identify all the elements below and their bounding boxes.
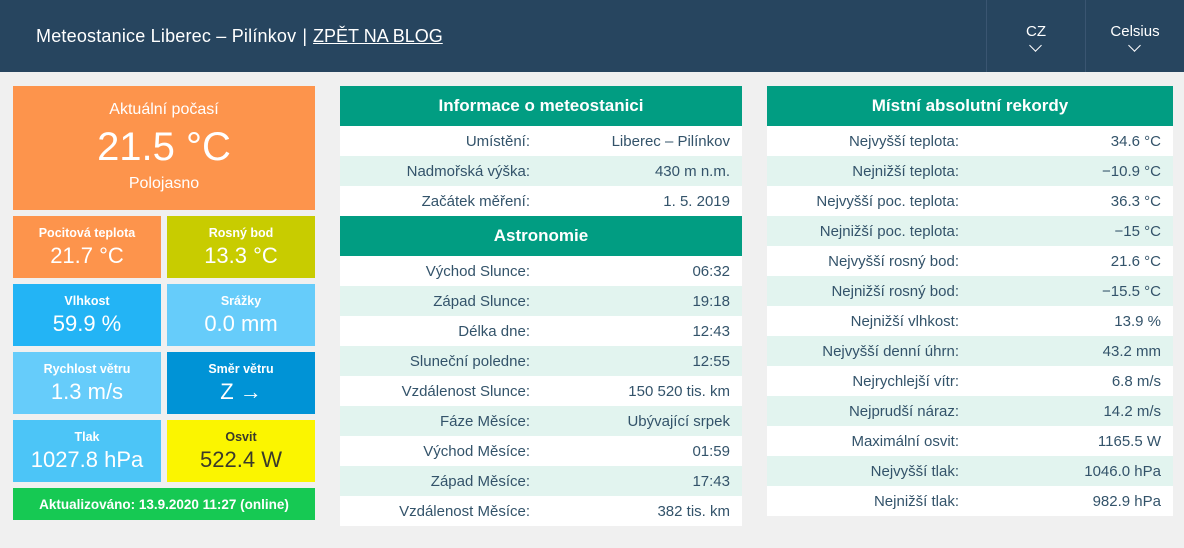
- astronomy-table: Východ Slunce:06:32Západ Slunce:19:18Dél…: [340, 256, 742, 526]
- measurement-tile[interactable]: Osvit522.4 W: [167, 420, 315, 482]
- measurement-tile-label: Směr větru: [208, 361, 273, 378]
- table-row: Nejnižší rosný bod:−15.5 °C: [767, 276, 1173, 306]
- table-row-key: Začátek měření:: [340, 193, 540, 210]
- measurement-tile[interactable]: Rosný bod13.3 °C: [167, 216, 315, 278]
- header-controls: CZ Celsius: [986, 0, 1184, 72]
- records-header: Místní absolutní rekordy: [767, 86, 1173, 126]
- station-info-column: Informace o meteostanici Umístění:Libere…: [340, 86, 742, 526]
- table-row-value-text[interactable]: 34.6 °C: [1111, 133, 1161, 150]
- table-row: Začátek měření:1. 5. 2019: [340, 186, 742, 216]
- table-row-key: Západ Slunce:: [340, 293, 540, 310]
- current-weather-card: Aktuální počasí 21.5 °C Polojasno: [13, 86, 315, 210]
- table-row-value: 36.3 °C: [969, 193, 1173, 210]
- last-updated-text: Aktualizováno: 13.9.2020 11:27 (online): [39, 497, 289, 512]
- records-column: Místní absolutní rekordy Nejvyšší teplot…: [767, 86, 1173, 526]
- table-row-value-text[interactable]: 14.2 m/s: [1103, 403, 1161, 420]
- back-to-blog-link[interactable]: ZPĚT NA BLOG: [313, 26, 443, 47]
- chevron-down-icon: [1129, 41, 1142, 49]
- table-row-value: 01:59: [540, 443, 742, 460]
- table-row-key: Nejvyšší tlak:: [767, 463, 969, 480]
- table-row-value: 1165.5 W: [969, 433, 1173, 450]
- table-row-value: 13.9 %: [969, 313, 1173, 330]
- table-row-value: 6.8 m/s: [969, 373, 1173, 390]
- table-row-value: 34.6 °C: [969, 133, 1173, 150]
- measurement-tile[interactable]: Pocitová teplota21.7 °C: [13, 216, 161, 278]
- table-row: Západ Měsíce:17:43: [340, 466, 742, 496]
- table-row-value-text[interactable]: 6.8 m/s: [1112, 373, 1161, 390]
- measurement-tile[interactable]: Tlak1027.8 hPa: [13, 420, 161, 482]
- table-row: Délka dne:12:43: [340, 316, 742, 346]
- table-row-value-text[interactable]: 1046.0 hPa: [1084, 463, 1161, 480]
- chevron-down-icon: [1030, 41, 1043, 49]
- title-separator: |: [296, 26, 313, 47]
- measurement-tile-value: 21.7 °C: [50, 242, 124, 270]
- table-row-key: Sluneční poledne:: [340, 353, 540, 370]
- table-row-value: 17:43: [540, 473, 742, 490]
- table-row-value-text[interactable]: 150 520 tis. km: [628, 383, 730, 400]
- measurement-tile[interactable]: Srážky0.0 mm: [167, 284, 315, 346]
- table-row-key: Nejvyšší denní úhrn:: [767, 343, 969, 360]
- language-dropdown[interactable]: CZ: [986, 0, 1085, 72]
- measurement-tile-value: 59.9 %: [53, 310, 122, 338]
- table-row-value: 21.6 °C: [969, 253, 1173, 270]
- table-row-key: Nadmořská výška:: [340, 163, 540, 180]
- table-row-value: −15 °C: [969, 223, 1173, 240]
- table-row: Nejvyšší denní úhrn:43.2 mm: [767, 336, 1173, 366]
- table-row-value: Liberec – Pilínkov: [540, 133, 742, 150]
- table-row-value: 982.9 hPa: [969, 493, 1173, 510]
- table-row-value-text[interactable]: 43.2 mm: [1103, 343, 1161, 360]
- table-row: Nejnižší vlhkost:13.9 %: [767, 306, 1173, 336]
- table-row-value-text[interactable]: 1165.5 W: [1098, 433, 1161, 450]
- table-row-key: Nejnižší tlak:: [767, 493, 969, 510]
- table-row: Nejnižší poc. teplota:−15 °C: [767, 216, 1173, 246]
- table-row: Vzdálenost Měsíce:382 tis. km: [340, 496, 742, 526]
- measurement-tile-value: 1.3 m/s: [51, 378, 123, 406]
- table-row-value-text[interactable]: −15 °C: [1115, 223, 1161, 240]
- measurement-tile-label: Rychlost větru: [44, 361, 131, 378]
- measurement-tile[interactable]: Vlhkost59.9 %: [13, 284, 161, 346]
- measurement-tile-label: Rosný bod: [209, 225, 274, 242]
- table-row-value-text[interactable]: 982.9 hPa: [1093, 493, 1161, 510]
- records-table: Nejvyšší teplota:34.6 °CNejnižší teplota…: [767, 126, 1173, 516]
- table-row-key: Východ Slunce:: [340, 263, 540, 280]
- current-temperature-value: 21.5 °C: [13, 122, 315, 172]
- table-row: Nejvyšší teplota:34.6 °C: [767, 126, 1173, 156]
- table-row-value: 19:18: [540, 293, 742, 310]
- current-weather-description: Polojasno: [13, 172, 315, 196]
- current-weather-column: Aktuální počasí 21.5 °C Polojasno Pocito…: [13, 86, 315, 526]
- table-row-value: 150 520 tis. km: [540, 383, 742, 400]
- table-row-key: Vzdálenost Slunce:: [340, 383, 540, 400]
- table-row: Nejprudší náraz:14.2 m/s: [767, 396, 1173, 426]
- last-updated-badge: Aktualizováno: 13.9.2020 11:27 (online): [13, 488, 315, 520]
- table-row-value-text[interactable]: 382 tis. km: [657, 503, 730, 520]
- table-row-value: 1. 5. 2019: [540, 193, 742, 210]
- page-title: Meteostanice Liberec – Pilínkov: [36, 26, 296, 47]
- table-row-key: Nejnižší vlhkost:: [767, 313, 969, 330]
- current-weather-label: Aktuální počasí: [13, 98, 315, 122]
- table-row: Maximální osvit:1165.5 W: [767, 426, 1173, 456]
- table-row-key: Vzdálenost Měsíce:: [340, 503, 540, 520]
- measurement-tile-label: Osvit: [225, 429, 256, 446]
- table-row: Východ Měsíce:01:59: [340, 436, 742, 466]
- table-row-value-text[interactable]: 21.6 °C: [1111, 253, 1161, 270]
- table-row: Nejvyšší poc. teplota:36.3 °C: [767, 186, 1173, 216]
- table-row: Fáze Měsíce:Ubývající srpek: [340, 406, 742, 436]
- table-row: Západ Slunce:19:18: [340, 286, 742, 316]
- table-row-key: Nejnižší rosný bod:: [767, 283, 969, 300]
- table-row-key: Západ Měsíce:: [340, 473, 540, 490]
- table-row-value: Ubývající srpek: [540, 413, 742, 430]
- header-title-group: Meteostanice Liberec – Pilínkov | ZPĚT N…: [0, 0, 443, 72]
- table-row-value: 43.2 mm: [969, 343, 1173, 360]
- table-row-key: Nejvyšší poc. teplota:: [767, 193, 969, 210]
- table-row: Východ Slunce:06:32: [340, 256, 742, 286]
- table-row-key: Nejvyšší teplota:: [767, 133, 969, 150]
- table-row-key: Maximální osvit:: [767, 433, 969, 450]
- measurement-tile-label: Srážky: [221, 293, 261, 310]
- table-row-value: 430 m n.m.: [540, 163, 742, 180]
- station-info-header: Informace o meteostanici: [340, 86, 742, 126]
- astronomy-header: Astronomie: [340, 216, 742, 256]
- table-row-key: Nejrychlejší vítr:: [767, 373, 969, 390]
- table-row-key: Fáze Měsíce:: [340, 413, 540, 430]
- table-row-key: Umístění:: [340, 133, 540, 150]
- table-row-key: Východ Měsíce:: [340, 443, 540, 460]
- table-row-value-text[interactable]: −15.5 °C: [1102, 283, 1161, 300]
- table-row-value: −15.5 °C: [969, 283, 1173, 300]
- measurement-tile-value: 13.3 °C: [204, 242, 278, 270]
- table-row: Nejnižší teplota:−10.9 °C: [767, 156, 1173, 186]
- measurement-tile-grid: Pocitová teplota21.7 °CRosný bod13.3 °CV…: [13, 216, 315, 482]
- page-body: Aktuální počasí 21.5 °C Polojasno Pocito…: [0, 72, 1184, 526]
- table-row-value-text[interactable]: 13.9 %: [1114, 313, 1161, 330]
- table-row-key: Délka dne:: [340, 323, 540, 340]
- table-row-key: Nejprudší náraz:: [767, 403, 969, 420]
- language-dropdown-label: CZ: [1026, 24, 1046, 39]
- station-info-table: Umístění:Liberec – PilínkovNadmořská výš…: [340, 126, 742, 216]
- table-row-key: Nejnižší poc. teplota:: [767, 223, 969, 240]
- table-row: Vzdálenost Slunce:150 520 tis. km: [340, 376, 742, 406]
- table-row-value: 12:43: [540, 323, 742, 340]
- table-row: Nejvyšší tlak:1046.0 hPa: [767, 456, 1173, 486]
- units-dropdown[interactable]: Celsius: [1085, 0, 1184, 72]
- table-row-key: Nejnižší teplota:: [767, 163, 969, 180]
- measurement-tile-value: 0.0 mm: [204, 310, 277, 338]
- measurement-tile-label: Vlhkost: [64, 293, 109, 310]
- measurement-tile-value: 522.4 W: [200, 446, 282, 474]
- table-row-value: 382 tis. km: [540, 503, 742, 520]
- table-row: Nejvyšší rosný bod:21.6 °C: [767, 246, 1173, 276]
- table-row: Nejrychlejší vítr:6.8 m/s: [767, 366, 1173, 396]
- table-row-value: 06:32: [540, 263, 742, 280]
- units-dropdown-label: Celsius: [1110, 24, 1159, 39]
- measurement-tile[interactable]: Směr větruZ →: [167, 352, 315, 414]
- table-row: Umístění:Liberec – Pilínkov: [340, 126, 742, 156]
- table-row-value: 12:55: [540, 353, 742, 370]
- measurement-tile-label: Pocitová teplota: [39, 225, 136, 242]
- table-row-value: 1046.0 hPa: [969, 463, 1173, 480]
- table-row: Sluneční poledne:12:55: [340, 346, 742, 376]
- table-row-value: 14.2 m/s: [969, 403, 1173, 420]
- table-row-value-text[interactable]: 36.3 °C: [1111, 193, 1161, 210]
- table-row: Nadmořská výška:430 m n.m.: [340, 156, 742, 186]
- measurement-tile-value: 1027.8 hPa: [31, 446, 144, 474]
- table-row-key: Nejvyšší rosný bod:: [767, 253, 969, 270]
- table-row: Nejnižší tlak:982.9 hPa: [767, 486, 1173, 516]
- measurement-tile-label: Tlak: [74, 429, 99, 446]
- table-row-value: −10.9 °C: [969, 163, 1173, 180]
- top-header-bar: Meteostanice Liberec – Pilínkov | ZPĚT N…: [0, 0, 1184, 72]
- measurement-tile[interactable]: Rychlost větru1.3 m/s: [13, 352, 161, 414]
- measurement-tile-value: Z →: [220, 378, 262, 406]
- table-row-value-text[interactable]: −10.9 °C: [1102, 163, 1161, 180]
